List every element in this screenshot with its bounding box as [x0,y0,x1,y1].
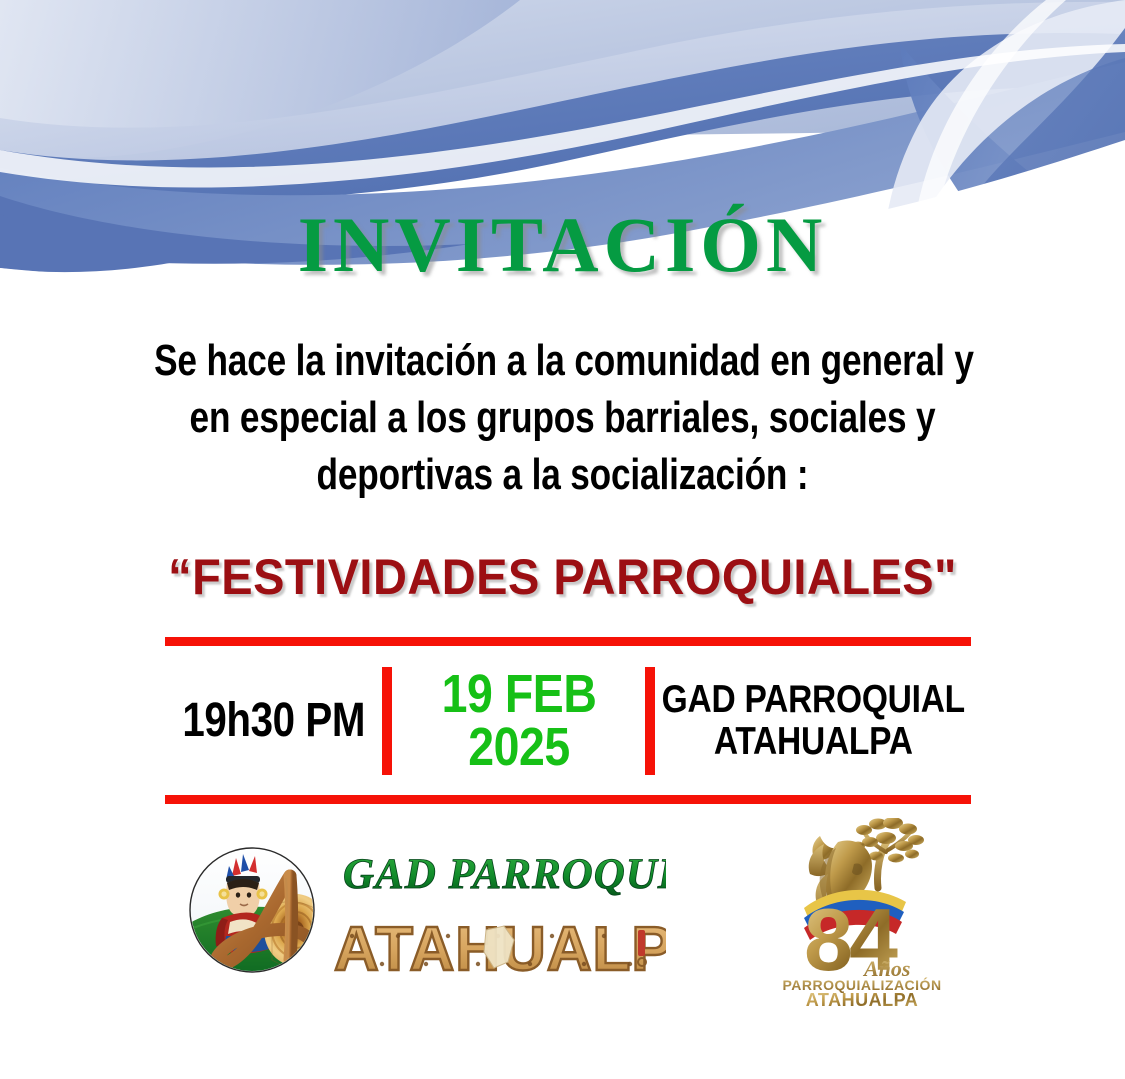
event-date-line-2: 2025 [441,721,596,774]
page-title: INVITACIÓN [0,206,1125,284]
body-line-3: deportivas a la socialización : [154,446,971,503]
organizer-line-2: ATAHUALPA [661,721,964,762]
organizer-line-1: GAD PARROQUIAL [661,679,964,720]
event-details-band: 19h30 PM 19 FEB 2025 GAD PARROQUIAL ATAH… [165,637,971,804]
event-time: 19h30 PM [165,646,382,795]
event-name: “FESTIVIDADES PARROQUIALES" [34,548,1092,606]
band-rule-bottom [165,795,971,804]
band-divider-1 [382,667,392,775]
band-rule-top [165,637,971,646]
anniversary-84-logo: 84 Años PARROQUIALIZACIÓN ATAHUALPA [780,818,945,1008]
invitation-poster: INVITACIÓN Se hace la invitación a la co… [0,0,1125,1079]
logo-gad-top-text: GAD PARROQUIAL [343,851,666,898]
blue-wave-decoration [0,0,1125,360]
anniversary-line-2: ATAHUALPA [806,990,918,1008]
event-time-text: 19h30 PM [182,693,365,748]
gad-parroquial-atahualpa-logo: GAD PARROQUIAL ATAHUALPA [186,838,666,986]
event-date: 19 FEB 2025 [392,646,645,795]
body-line-1: Se hace la invitación a la comunidad en … [154,332,971,389]
logo-gad-bottom-text: ATAHUALPA [334,915,666,984]
atahualpa-circular-emblem [188,848,328,974]
invitation-body: Se hace la invitación a la comunidad en … [154,332,971,504]
body-line-2: en especial a los grupos barriales, soci… [154,389,971,446]
event-date-line-1: 19 FEB [441,668,596,721]
event-organizer: GAD PARROQUIAL ATAHUALPA [655,646,971,795]
band-divider-2 [645,667,655,775]
